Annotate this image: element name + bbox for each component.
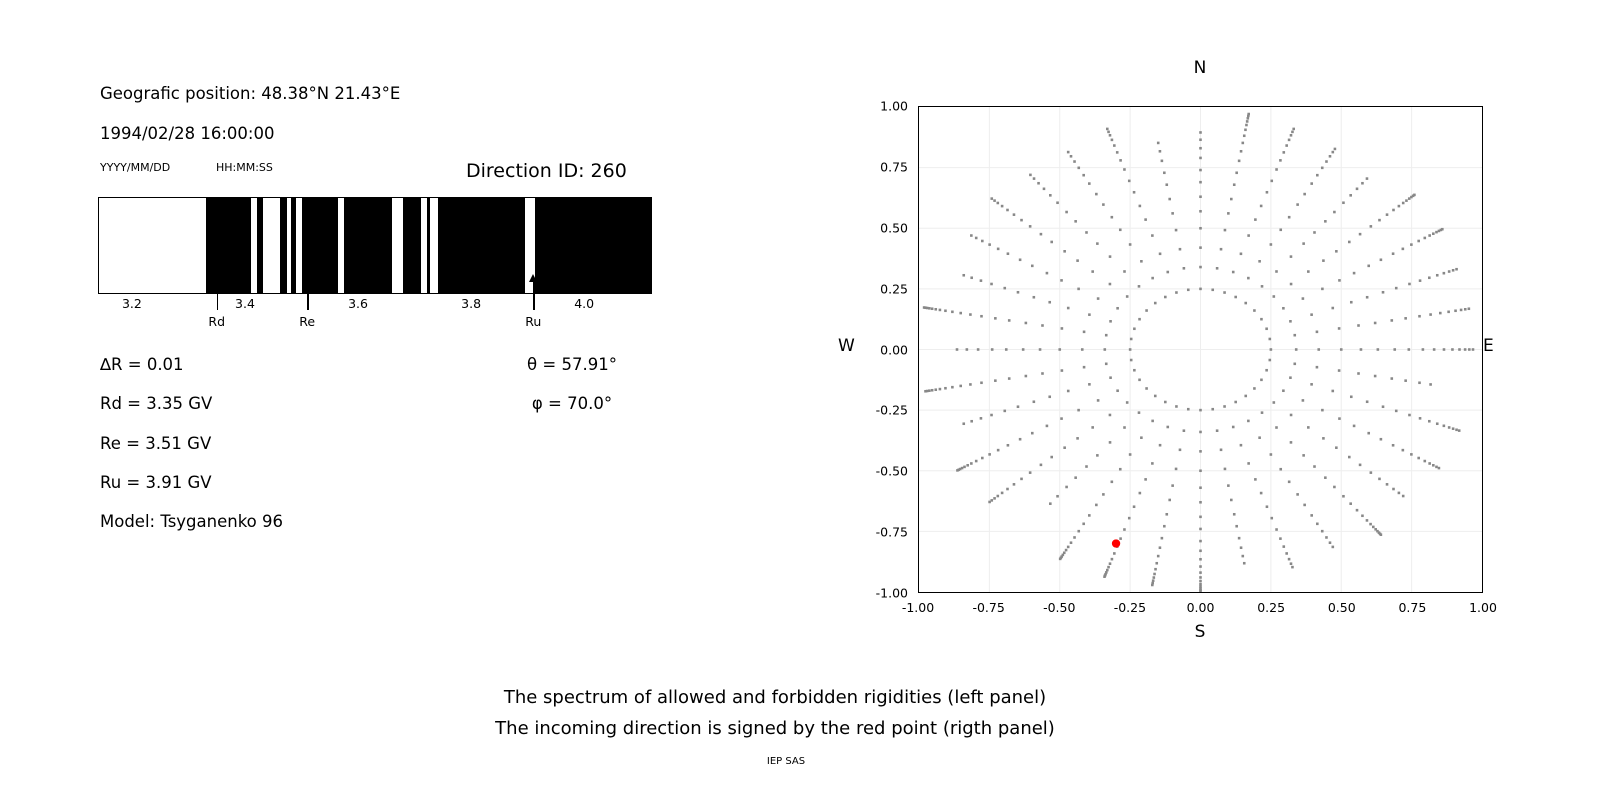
direction-point xyxy=(1126,401,1129,404)
direction-point xyxy=(1105,334,1108,337)
direction-point xyxy=(1159,150,1162,153)
direction-point xyxy=(1353,425,1356,428)
direction-map-xtick-label: -0.75 xyxy=(972,600,1004,615)
direction-point xyxy=(1048,395,1051,398)
direction-point xyxy=(1199,576,1202,579)
direction-point xyxy=(1322,437,1325,440)
direction-point xyxy=(1428,462,1431,465)
direction-point xyxy=(1022,348,1025,351)
direction-point xyxy=(1417,240,1420,243)
direction-point xyxy=(1077,167,1080,170)
direction-point xyxy=(1129,243,1132,246)
direction-point xyxy=(1254,478,1257,481)
direction-point xyxy=(1452,427,1455,430)
direction-point xyxy=(1321,530,1324,533)
direction-point xyxy=(1331,390,1334,393)
direction-point xyxy=(1063,250,1066,253)
direction-point xyxy=(1448,270,1451,273)
direction-point xyxy=(1335,250,1338,253)
direction-point xyxy=(1290,255,1293,258)
direction-point xyxy=(962,274,965,277)
direction-point xyxy=(1260,205,1263,208)
direction-point xyxy=(990,283,993,286)
direction-point xyxy=(1230,198,1233,201)
direction-point xyxy=(1316,366,1319,369)
direction-point xyxy=(1154,395,1157,398)
direction-point xyxy=(1342,201,1345,204)
direction-point xyxy=(1321,167,1324,170)
direction-point xyxy=(1433,348,1436,351)
direction-point xyxy=(1074,220,1077,223)
direction-point xyxy=(1096,242,1099,245)
direction-point xyxy=(975,460,978,463)
direction-point xyxy=(1164,296,1167,299)
direction-point xyxy=(1168,499,1171,502)
direction-point xyxy=(1244,302,1247,305)
direction-point xyxy=(1404,379,1407,382)
direction-point xyxy=(1464,348,1467,351)
direction-point xyxy=(969,313,972,316)
direction-point xyxy=(1321,409,1324,412)
direction-point xyxy=(1366,177,1369,180)
direction-point xyxy=(1123,270,1126,273)
direction-map-ytick-label: 1.00 xyxy=(852,99,908,114)
direction-point xyxy=(1159,546,1162,549)
direction-point xyxy=(1458,429,1461,432)
direction-point xyxy=(1060,417,1063,420)
direction-point xyxy=(1408,283,1411,286)
direction-point xyxy=(1065,549,1068,552)
direction-point xyxy=(1013,213,1016,216)
direction-point xyxy=(969,383,972,386)
direction-point xyxy=(1151,584,1154,587)
direction-point xyxy=(1224,468,1227,471)
direction-point xyxy=(1155,562,1158,565)
direction-point xyxy=(1119,537,1122,540)
direction-map-xtick-label: -0.50 xyxy=(1043,600,1075,615)
direction-point xyxy=(1175,468,1178,471)
direction-point xyxy=(1199,131,1202,134)
direction-point xyxy=(1295,348,1298,351)
direction-point xyxy=(1273,295,1276,298)
direction-point xyxy=(1392,252,1395,255)
direction-point xyxy=(1077,409,1080,412)
direction-point xyxy=(1199,516,1202,519)
direction-point xyxy=(1129,348,1132,351)
direction-point xyxy=(1244,128,1247,131)
direction-point xyxy=(1102,203,1105,206)
direction-point xyxy=(1199,501,1202,504)
direction-point xyxy=(1435,231,1438,234)
direction-point xyxy=(1199,138,1202,141)
direction-point xyxy=(924,390,927,393)
direction-point xyxy=(1003,287,1006,290)
direction-point xyxy=(970,420,973,423)
direction-point xyxy=(1348,241,1351,244)
direction-point xyxy=(1025,375,1028,378)
direction-point xyxy=(1377,348,1380,351)
direction-point xyxy=(1472,348,1475,351)
direction-point xyxy=(1291,131,1294,134)
direction-point xyxy=(980,315,983,318)
direction-point xyxy=(1077,288,1080,291)
direction-point xyxy=(1313,231,1316,234)
direction-point xyxy=(1165,183,1168,186)
direction-point xyxy=(1216,267,1219,270)
direction-point xyxy=(1382,405,1385,408)
direction-point xyxy=(1296,203,1299,206)
direction-point xyxy=(1070,541,1073,544)
direction-point xyxy=(1380,533,1383,536)
direction-point xyxy=(1338,417,1341,420)
direction-point xyxy=(1240,444,1243,447)
direction-point xyxy=(1247,277,1250,280)
direction-point xyxy=(1275,426,1278,429)
direction-point xyxy=(1378,219,1381,222)
direction-point xyxy=(1316,523,1319,526)
direction-map-xtick-label: -0.25 xyxy=(1114,600,1146,615)
direction-point xyxy=(1154,568,1157,571)
direction-point xyxy=(1138,285,1141,288)
direction-point xyxy=(1175,405,1178,408)
direction-point xyxy=(990,197,993,200)
direction-point xyxy=(997,202,1000,205)
direction-point xyxy=(1013,483,1016,486)
direction-point xyxy=(1088,383,1091,386)
direction-point xyxy=(1220,449,1223,452)
direction-point xyxy=(1138,379,1141,382)
direction-point xyxy=(1402,495,1405,498)
direction-point xyxy=(1123,168,1126,171)
cardinal-east-label: E xyxy=(1483,336,1494,356)
direction-point xyxy=(1151,277,1154,280)
direction-point xyxy=(1083,331,1086,334)
direction-point xyxy=(1145,387,1148,390)
direction-point xyxy=(1106,569,1109,572)
direction-point xyxy=(1329,155,1332,158)
direction-point xyxy=(1372,526,1375,529)
direction-point xyxy=(1292,128,1295,131)
direction-point xyxy=(1410,453,1413,456)
direction-point xyxy=(1199,288,1202,291)
direction-point xyxy=(1220,248,1223,251)
direction-point xyxy=(1109,320,1112,323)
direction-point xyxy=(1232,426,1235,429)
direction-point xyxy=(1088,182,1091,185)
direction-point xyxy=(1183,267,1186,270)
direction-point xyxy=(1247,113,1250,116)
direction-point xyxy=(1144,478,1147,481)
direction-point xyxy=(1233,183,1236,186)
direction-point xyxy=(1269,359,1272,362)
direction-point xyxy=(962,422,965,425)
direction-point xyxy=(1232,271,1235,274)
direction-point xyxy=(1020,219,1023,222)
direction-point xyxy=(1029,225,1032,228)
direction-point xyxy=(1291,566,1294,569)
direction-point xyxy=(1223,405,1226,408)
direction-point xyxy=(1288,216,1291,219)
direction-point xyxy=(981,240,984,243)
direction-point xyxy=(1113,144,1116,147)
direction-point xyxy=(1348,456,1351,459)
direction-point xyxy=(988,501,991,504)
direction-point xyxy=(1199,409,1202,412)
direction-point xyxy=(1402,449,1405,452)
direction-point xyxy=(1102,493,1105,496)
direction-point xyxy=(1408,414,1411,417)
direction-point xyxy=(934,308,937,311)
direction-point xyxy=(1241,555,1244,558)
direction-point xyxy=(1145,309,1148,312)
direction-point xyxy=(1243,562,1246,565)
direction-point xyxy=(1046,272,1049,275)
direction-point xyxy=(1199,147,1202,150)
direction-point xyxy=(1288,481,1291,484)
direction-point xyxy=(1187,289,1190,292)
direction-point xyxy=(1332,546,1335,549)
direction-point xyxy=(1454,309,1457,312)
direction-point xyxy=(1113,552,1116,555)
direction-point xyxy=(1269,338,1272,341)
direction-point xyxy=(1065,211,1068,214)
direction-point xyxy=(1050,241,1053,244)
direction-point xyxy=(1161,537,1164,540)
direction-point xyxy=(1085,465,1088,468)
direction-point xyxy=(1290,441,1293,444)
direction-point xyxy=(1111,481,1114,484)
direction-point xyxy=(1386,483,1389,486)
direction-point xyxy=(970,234,973,237)
direction-point xyxy=(1275,528,1278,531)
grid-lines xyxy=(919,107,1482,592)
direction-point xyxy=(1067,546,1070,549)
direction-point xyxy=(959,312,962,315)
direction-map-xtick-label: 0.75 xyxy=(1398,600,1426,615)
incoming-direction-marker xyxy=(1112,539,1120,547)
direction-point xyxy=(1270,453,1273,456)
direction-point xyxy=(1370,225,1373,228)
direction-point xyxy=(1398,492,1401,495)
direction-point xyxy=(1116,151,1119,154)
direction-point xyxy=(1103,575,1106,578)
direction-map-xtick-label: 0.25 xyxy=(1257,600,1285,615)
direction-point xyxy=(1060,279,1063,282)
direction-point xyxy=(1353,272,1356,275)
direction-point xyxy=(1443,348,1446,351)
direction-point xyxy=(1119,159,1122,162)
direction-point xyxy=(1324,476,1327,479)
direction-point xyxy=(1017,291,1020,294)
direction-point xyxy=(1429,313,1432,316)
direction-point xyxy=(923,306,926,309)
direction-point xyxy=(1279,159,1282,162)
direction-point xyxy=(1235,171,1238,174)
direction-point xyxy=(1428,276,1431,279)
direction-point xyxy=(1233,513,1236,516)
direction-point xyxy=(1258,436,1261,439)
direction-point xyxy=(1199,580,1202,583)
direction-point xyxy=(1402,248,1405,251)
direction-point xyxy=(1056,201,1059,204)
direction-point xyxy=(1458,348,1461,351)
direction-point xyxy=(1199,431,1202,434)
direction-point xyxy=(1077,530,1080,533)
direction-point xyxy=(1109,441,1112,444)
direction-map-ytick-label: 0.50 xyxy=(852,220,908,235)
direction-point xyxy=(1019,438,1022,441)
direction-point xyxy=(970,276,973,279)
direction-point xyxy=(981,457,984,460)
direction-point xyxy=(1151,234,1154,237)
direction-point xyxy=(1029,471,1032,474)
direction-point xyxy=(1106,128,1109,131)
direction-point xyxy=(1360,348,1363,351)
direction-point xyxy=(1153,573,1156,576)
direction-point xyxy=(1238,160,1241,163)
direction-point xyxy=(1293,334,1296,337)
direction-point xyxy=(1067,390,1070,393)
direction-point xyxy=(1199,549,1202,552)
direction-point xyxy=(1288,558,1291,561)
direction-point xyxy=(994,379,997,382)
direction-point xyxy=(1340,348,1343,351)
direction-point xyxy=(1404,317,1407,320)
direction-point xyxy=(1082,174,1085,177)
direction-point xyxy=(1005,348,1008,351)
direction-point xyxy=(1253,309,1256,312)
direction-point xyxy=(944,309,947,312)
direction-point xyxy=(1223,291,1226,294)
direction-point xyxy=(1247,420,1250,423)
direction-point xyxy=(1088,514,1091,517)
direction-point xyxy=(1247,117,1250,120)
direction-point xyxy=(1199,540,1202,543)
direction-point xyxy=(1321,288,1324,291)
direction-point xyxy=(1303,193,1306,196)
direction-point xyxy=(1171,212,1174,215)
direction-point xyxy=(1123,426,1126,429)
direction-point xyxy=(1395,287,1398,290)
direction-point xyxy=(1302,399,1305,402)
direction-point xyxy=(1289,320,1292,323)
direction-point xyxy=(1008,319,1011,322)
direction-point xyxy=(1261,411,1264,414)
direction-point xyxy=(1289,376,1292,379)
direction-point xyxy=(1316,174,1319,177)
direction-map-xtick-label: 1.00 xyxy=(1469,600,1497,615)
direction-point xyxy=(1161,160,1164,163)
direction-point xyxy=(1307,270,1310,273)
direction-point xyxy=(959,385,962,388)
direction-point xyxy=(1063,446,1066,449)
direction-point xyxy=(1049,502,1052,505)
direction-point xyxy=(1241,142,1244,145)
direction-point xyxy=(1199,590,1202,592)
direction-point xyxy=(1254,218,1257,221)
direction-point xyxy=(1031,432,1034,435)
direction-point xyxy=(1091,426,1094,429)
direction-point xyxy=(1392,488,1395,491)
direction-point xyxy=(1065,486,1068,489)
direction-point xyxy=(939,388,942,391)
direction-point xyxy=(1238,537,1241,540)
direction-point xyxy=(1199,469,1202,472)
direction-point xyxy=(1157,555,1160,558)
direction-point xyxy=(1227,484,1230,487)
direction-point xyxy=(1266,505,1269,508)
direction-point xyxy=(1211,408,1214,411)
direction-point xyxy=(1085,231,1088,234)
direction-point xyxy=(1109,414,1112,417)
direction-point xyxy=(1105,363,1108,366)
direction-point xyxy=(1133,369,1136,372)
direction-point xyxy=(1367,265,1370,268)
direction-point xyxy=(1260,492,1263,495)
direction-point xyxy=(1443,272,1446,275)
direction-point xyxy=(1369,523,1372,526)
direction-point xyxy=(1413,194,1416,197)
direction-point xyxy=(1070,155,1073,158)
direction-point xyxy=(1116,307,1119,310)
direction-point xyxy=(1435,466,1438,469)
direction-point xyxy=(1033,296,1036,299)
direction-point xyxy=(1081,348,1084,351)
direction-point xyxy=(1325,536,1328,539)
direction-point xyxy=(1441,228,1444,231)
direction-point xyxy=(1464,308,1467,311)
direction-point xyxy=(931,389,934,392)
direction-point xyxy=(1043,188,1046,191)
direction-point xyxy=(1302,297,1305,300)
direction-point xyxy=(1020,478,1023,481)
direction-map-ytick-label: -0.50 xyxy=(852,464,908,479)
direction-point xyxy=(1439,312,1442,315)
direction-point xyxy=(1332,151,1335,154)
direction-point xyxy=(1349,194,1352,197)
direction-point xyxy=(1436,422,1439,425)
direction-point xyxy=(1199,157,1202,160)
direction-point xyxy=(1159,444,1162,447)
direction-point xyxy=(1129,453,1132,456)
cardinal-north-label: N xyxy=(1194,58,1207,78)
direction-point xyxy=(1130,359,1133,362)
direction-point xyxy=(1179,248,1182,251)
direction-point xyxy=(1138,411,1141,414)
direction-point xyxy=(1265,369,1268,372)
direction-point xyxy=(991,348,994,351)
direction-point xyxy=(1356,509,1359,512)
direction-point xyxy=(1285,552,1288,555)
direction-point xyxy=(1157,142,1160,145)
direction-point xyxy=(1230,499,1233,502)
direction-point xyxy=(1290,283,1293,286)
direction-point xyxy=(1199,266,1202,269)
direction-point xyxy=(1139,205,1142,208)
direction-point xyxy=(1095,193,1098,196)
direction-point xyxy=(1417,457,1420,460)
direction-point xyxy=(1151,420,1154,423)
direction-point xyxy=(1067,307,1070,310)
direction-point xyxy=(1076,437,1079,440)
direction-point xyxy=(1282,151,1285,154)
direction-point xyxy=(1428,234,1431,237)
direction-point xyxy=(956,348,959,351)
direction-point xyxy=(1429,383,1432,386)
direction-point xyxy=(1329,541,1332,544)
direction-point xyxy=(988,243,991,246)
direction-point xyxy=(1338,369,1341,372)
